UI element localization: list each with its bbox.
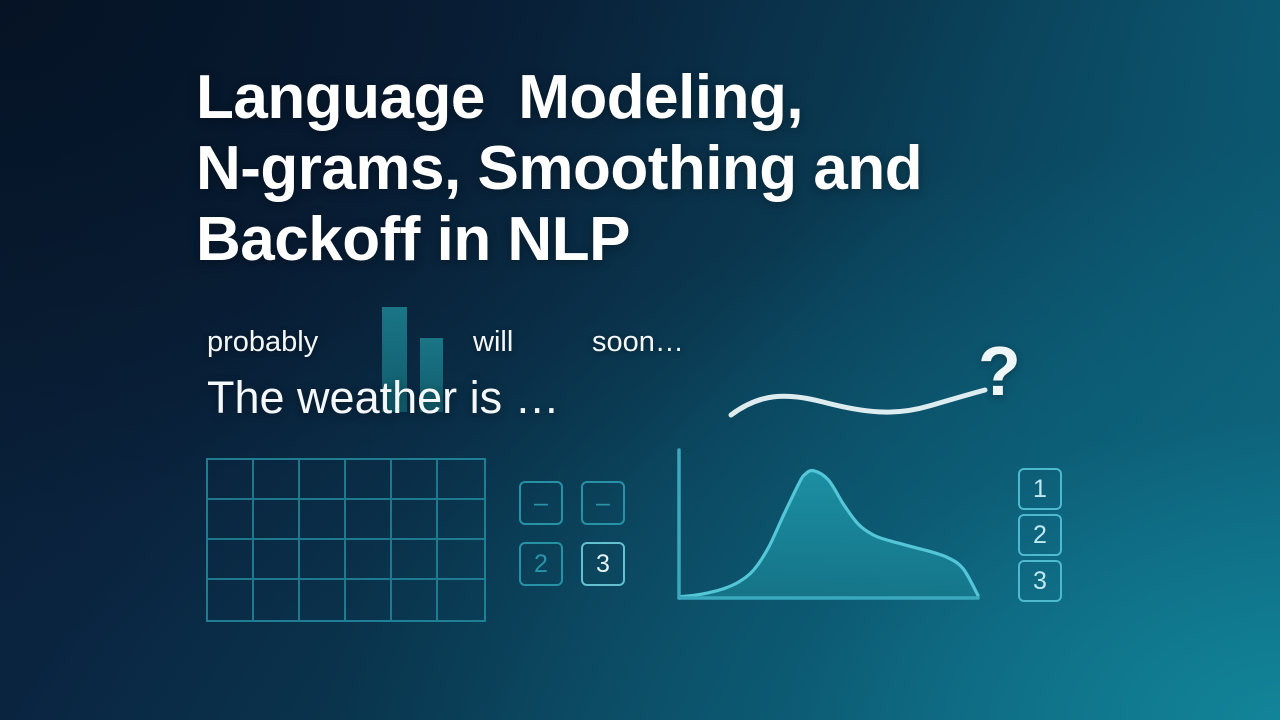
ngram-order-box: –	[519, 481, 563, 525]
title-line-1: Language Modeling,	[196, 62, 1156, 133]
rank-box: 3	[1018, 560, 1062, 602]
prediction-flow-curve-icon	[715, 370, 1005, 440]
question-mark-icon: ?	[978, 336, 1021, 406]
matrix-cell	[438, 500, 484, 540]
slide-canvas: Language Modeling, N-grams, Smoothing an…	[0, 0, 1280, 720]
matrix-cell	[392, 500, 438, 540]
matrix-cell	[254, 500, 300, 540]
matrix-cell	[208, 460, 254, 500]
matrix-cell	[392, 540, 438, 580]
matrix-cell	[438, 540, 484, 580]
matrix-cell	[346, 460, 392, 500]
matrix-cell	[254, 460, 300, 500]
matrix-cell	[392, 580, 438, 620]
matrix-cell	[254, 540, 300, 580]
matrix-cell	[346, 500, 392, 540]
matrix-cell	[208, 500, 254, 540]
ngram-count-matrix	[206, 458, 486, 622]
matrix-cell	[392, 460, 438, 500]
title-line-2: N-grams, Smoothing and	[196, 133, 1156, 204]
matrix-cell	[300, 460, 346, 500]
ranked-candidates-list: 123	[1018, 468, 1062, 602]
matrix-cell	[438, 580, 484, 620]
matrix-cell	[300, 540, 346, 580]
rank-box: 2	[1018, 514, 1062, 556]
matrix-cell	[438, 460, 484, 500]
probability-distribution-chart	[670, 444, 990, 609]
prompt-phrase: The weather is …	[207, 372, 560, 424]
ngram-order-box: 2	[519, 542, 563, 586]
matrix-cell	[208, 580, 254, 620]
matrix-cell	[254, 580, 300, 620]
title-line-3: Backoff in NLP	[196, 204, 1156, 275]
matrix-cell	[346, 540, 392, 580]
ngram-order-boxes: ––23	[519, 481, 625, 586]
candidate-word-soon: soon…	[592, 328, 684, 357]
page-title: Language Modeling, N-grams, Smoothing an…	[196, 62, 1156, 275]
matrix-cell	[300, 580, 346, 620]
candidate-word-probably: probably	[207, 328, 318, 357]
rank-box: 1	[1018, 468, 1062, 510]
matrix-cell	[346, 580, 392, 620]
ngram-order-box: 3	[581, 542, 625, 586]
matrix-cell	[300, 500, 346, 540]
matrix-cell	[208, 540, 254, 580]
ngram-order-box: –	[581, 481, 625, 525]
candidate-word-will: will	[473, 328, 513, 357]
